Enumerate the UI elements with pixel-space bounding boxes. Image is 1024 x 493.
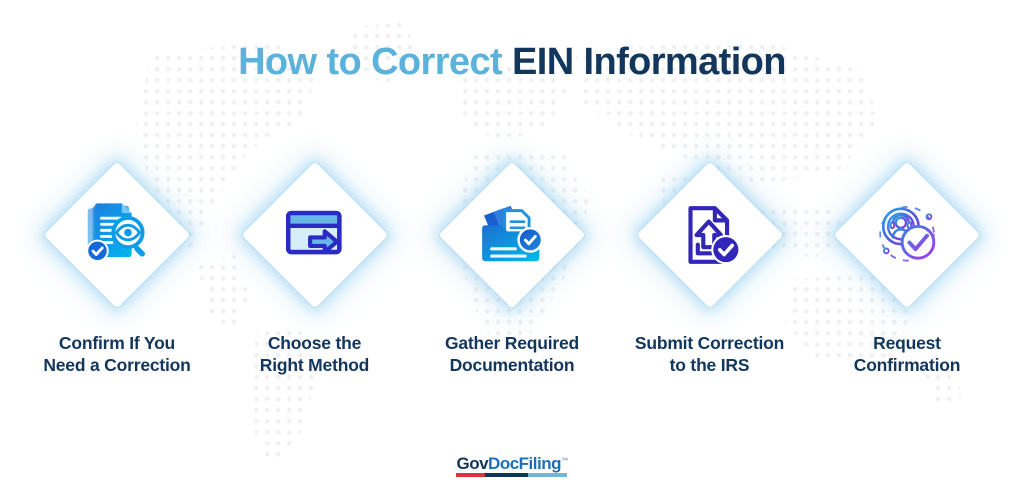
step-diamond-5 bbox=[827, 160, 987, 310]
page-title: How to Correct EIN Information bbox=[0, 42, 1024, 84]
step-diamond-1 bbox=[37, 160, 197, 310]
step-label: Choose the Right Method bbox=[260, 332, 369, 377]
step-diamond-2 bbox=[235, 160, 395, 310]
step-label-line-1: Submit Correction bbox=[635, 333, 784, 353]
step-diamond-4 bbox=[630, 160, 790, 310]
support-agent-check-icon bbox=[868, 196, 946, 274]
step-label: Submit Correction to the IRS bbox=[635, 332, 784, 377]
step-label-line-1: Choose the bbox=[268, 333, 361, 353]
window-arrow-right-icon bbox=[276, 196, 354, 274]
step-item: Choose the Right Method bbox=[224, 160, 406, 377]
documents-magnifier-check-icon bbox=[78, 196, 156, 274]
step-item: Gather Required Documentation bbox=[421, 160, 603, 377]
step-label-line-2: Right Method bbox=[260, 354, 369, 376]
logo-text: GovDocFiling™ bbox=[456, 455, 567, 472]
step-label-line-2: Documentation bbox=[445, 354, 579, 376]
step-label-line-2: to the IRS bbox=[635, 354, 784, 376]
step-label: Confirm If You Need a Correction bbox=[43, 332, 190, 377]
infographic-canvas: How to Correct EIN Information bbox=[0, 0, 1024, 493]
step-label-line-2: Need a Correction bbox=[43, 354, 190, 376]
logo-underline-bar bbox=[456, 473, 567, 477]
step-label-line-1: Gather Required bbox=[445, 333, 579, 353]
step-label: Request Confirmation bbox=[854, 332, 960, 377]
step-item: Request Confirmation bbox=[816, 160, 998, 377]
folder-documents-check-icon bbox=[473, 196, 551, 274]
step-label: Gather Required Documentation bbox=[445, 332, 579, 377]
step-item: Confirm If You Need a Correction bbox=[26, 160, 208, 377]
page-title-part-2: EIN Information bbox=[512, 41, 786, 83]
steps-row: Confirm If You Need a Correction bbox=[0, 160, 1024, 377]
logo-bar-segment-navy bbox=[485, 473, 527, 477]
step-diamond-3 bbox=[432, 160, 592, 310]
step-label-line-1: Request bbox=[873, 333, 941, 353]
logo-text-docfiling: DocFiling bbox=[488, 454, 561, 473]
logo-bar-segment-blue bbox=[528, 473, 568, 477]
logo-bar-segment-red bbox=[456, 473, 485, 477]
logo-trademark-symbol: ™ bbox=[561, 457, 568, 464]
footer: GovDocFiling™ bbox=[0, 455, 1024, 477]
logo-text-gov: Gov bbox=[456, 454, 488, 473]
govdocfiling-logo[interactable]: GovDocFiling™ bbox=[456, 455, 567, 477]
page-title-wrap: How to Correct EIN Information bbox=[0, 42, 1024, 84]
document-upload-check-icon bbox=[671, 196, 749, 274]
step-item: Submit Correction to the IRS bbox=[619, 160, 801, 377]
page-title-part-1: How to Correct bbox=[238, 41, 512, 83]
step-label-line-1: Confirm If You bbox=[59, 333, 175, 353]
step-label-line-2: Confirmation bbox=[854, 354, 960, 376]
